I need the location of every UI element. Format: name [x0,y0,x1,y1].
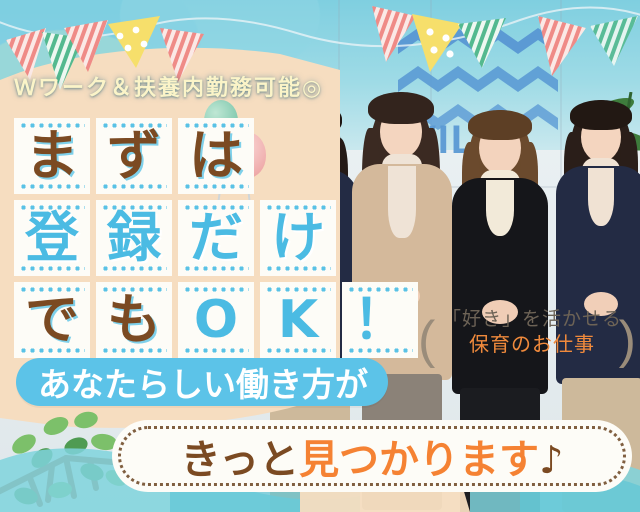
headline-cell: O [178,282,254,358]
flag [372,6,416,62]
closing-text-orange: 見つかります [299,437,539,483]
headline-char: は [189,129,243,183]
closing-text-brown: きっと [181,437,299,483]
headline-char: も [107,293,161,347]
flag [590,16,638,66]
handwritten-note: 「好き」を活かせる 保育のお仕事 [432,308,632,357]
closing-banner-text: きっと見つかります♪ [181,427,564,485]
flag [458,18,506,68]
bracket-left: ( [418,310,435,370]
headline-char: K [278,294,318,346]
headline-cell: K [260,282,336,358]
headline-cell: は [178,118,254,194]
headline-char: ！ [353,293,407,347]
recruitment-banner: WILL [0,0,640,512]
headline-char: O [194,294,238,346]
music-note-icon: ♪ [539,438,563,482]
headline-cell: ！ [342,282,418,358]
headline-cell: け [260,200,336,276]
headline-row-2: 登 録 だ け [14,200,336,276]
headline-cell: で [14,282,90,358]
subheadline-pill: あなたらしい働き方が [16,358,388,406]
flag [538,16,586,76]
headline-row-1: ま ず は [14,118,254,194]
headline-cell: 録 [96,200,172,276]
headline-char: で [25,293,79,347]
headline-char: ま [25,129,79,183]
flag-yellow-dotted [412,14,462,72]
headline-row-3: で も O K ！ [14,282,418,358]
handwritten-line-1: 「好き」を活かせる [432,308,632,332]
headline-char: だ [189,211,243,265]
handwritten-line-2: 保育のお仕事 [432,332,632,357]
headline-char: け [271,211,325,265]
headline-char: 登 [25,211,79,265]
catch-copy: Ｗワーク＆扶養内勤務可能◎ [14,70,323,102]
headline-char: 録 [107,211,161,265]
headline-cell: ま [14,118,90,194]
headline-cell: ず [96,118,172,194]
subheadline-text: あなたらしい働き方が [38,358,368,406]
headline-char: ず [107,129,161,183]
headline-cell: も [96,282,172,358]
headline-cell: だ [178,200,254,276]
closing-banner: きっと見つかります♪ [112,420,632,492]
headline-cell: 登 [14,200,90,276]
flag-yellow-dotted [108,16,160,68]
bracket-right: ) [619,310,636,370]
